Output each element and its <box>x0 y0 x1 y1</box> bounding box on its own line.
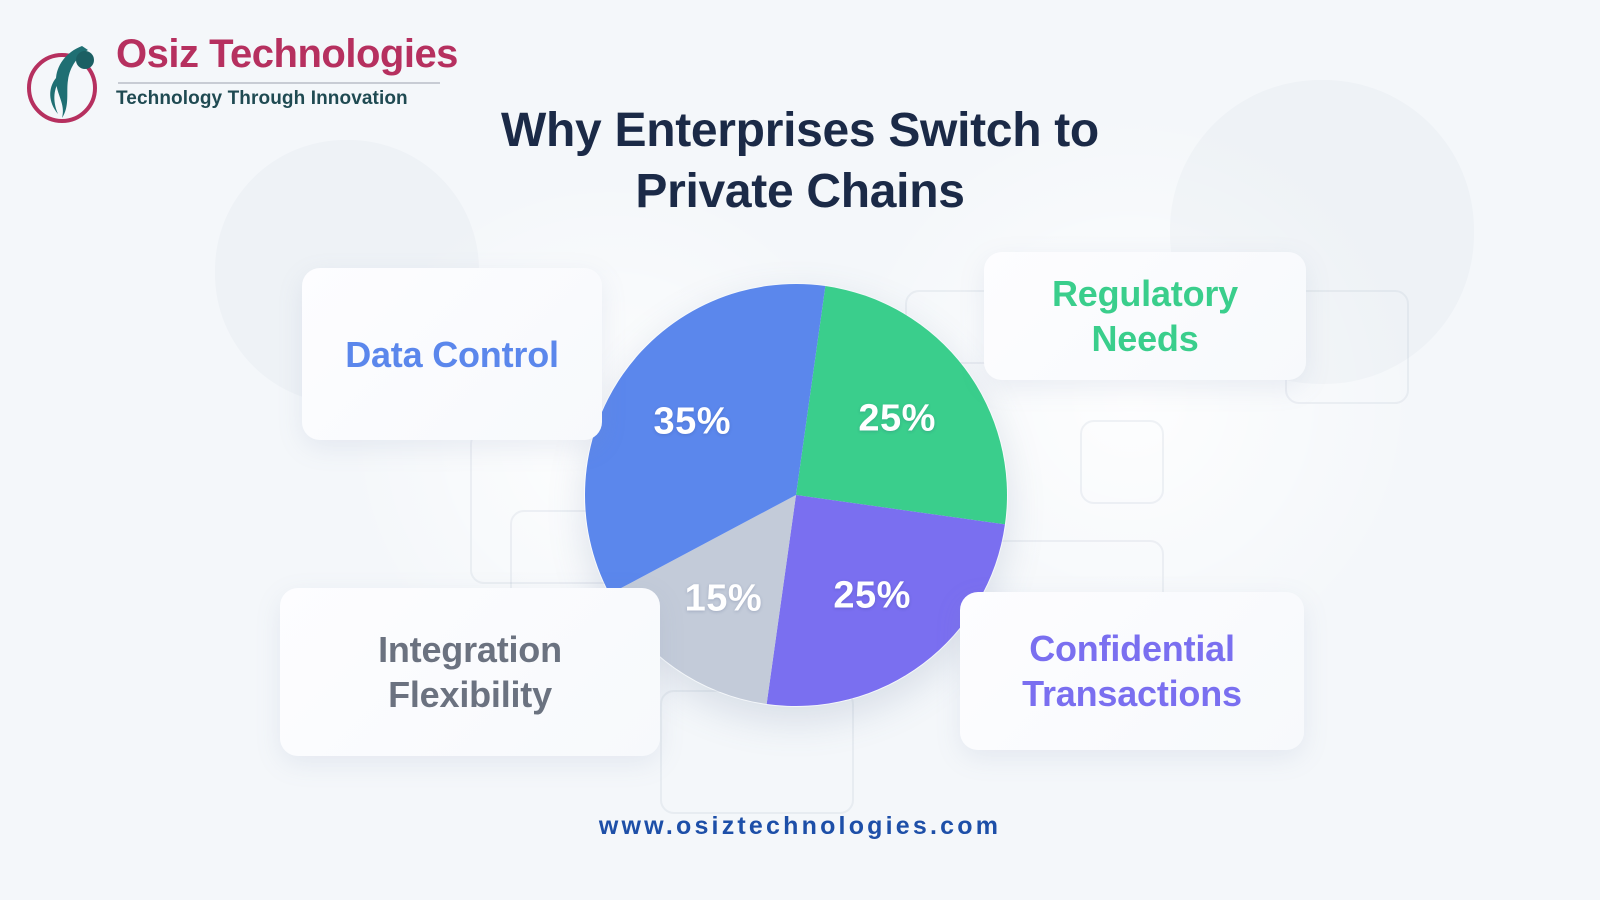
label-card-integration-flexibility-text: Integration Flexibility <box>298 627 642 717</box>
brand-logo: Osiz Technologies Technology Through Inn… <box>22 28 442 128</box>
brand-name: Osiz Technologies <box>116 34 446 74</box>
label-card-confidential-transactions[interactable]: Confidential Transactions <box>960 592 1304 750</box>
pie-slice-label-regulatory-needs: 25% <box>858 397 936 440</box>
pie-slice-label-confidential-transactions: 25% <box>833 575 911 618</box>
osiz-figure-circle-logo-icon <box>22 36 108 126</box>
pie-slice-label-integration-flexibility: 15% <box>685 577 763 620</box>
page-title: Why Enterprises Switch to Private Chains <box>400 100 1200 223</box>
label-card-integration-flexibility[interactable]: Integration Flexibility <box>280 588 660 756</box>
label-card-data-control-text: Data Control <box>345 332 559 377</box>
label-card-regulatory-needs[interactable]: Regulatory Needs <box>984 252 1306 380</box>
pie-slice-label-data-control: 35% <box>654 401 732 444</box>
brand-logo-text: Osiz Technologies Technology Through Inn… <box>116 34 446 110</box>
brand-divider <box>118 82 440 84</box>
label-card-data-control[interactable]: Data Control <box>302 268 602 440</box>
page-title-line-1: Why Enterprises Switch to <box>400 100 1200 161</box>
page-title-line-2: Private Chains <box>400 161 1200 222</box>
brand-tagline: Technology Through Innovation <box>116 88 446 110</box>
bg-rounded-rect-5 <box>1080 420 1164 504</box>
label-card-confidential-transactions-text: Confidential Transactions <box>978 626 1286 716</box>
footer-website-url[interactable]: www.osiztechnologies.com <box>0 812 1600 841</box>
label-card-regulatory-needs-text: Regulatory Needs <box>1002 271 1288 361</box>
